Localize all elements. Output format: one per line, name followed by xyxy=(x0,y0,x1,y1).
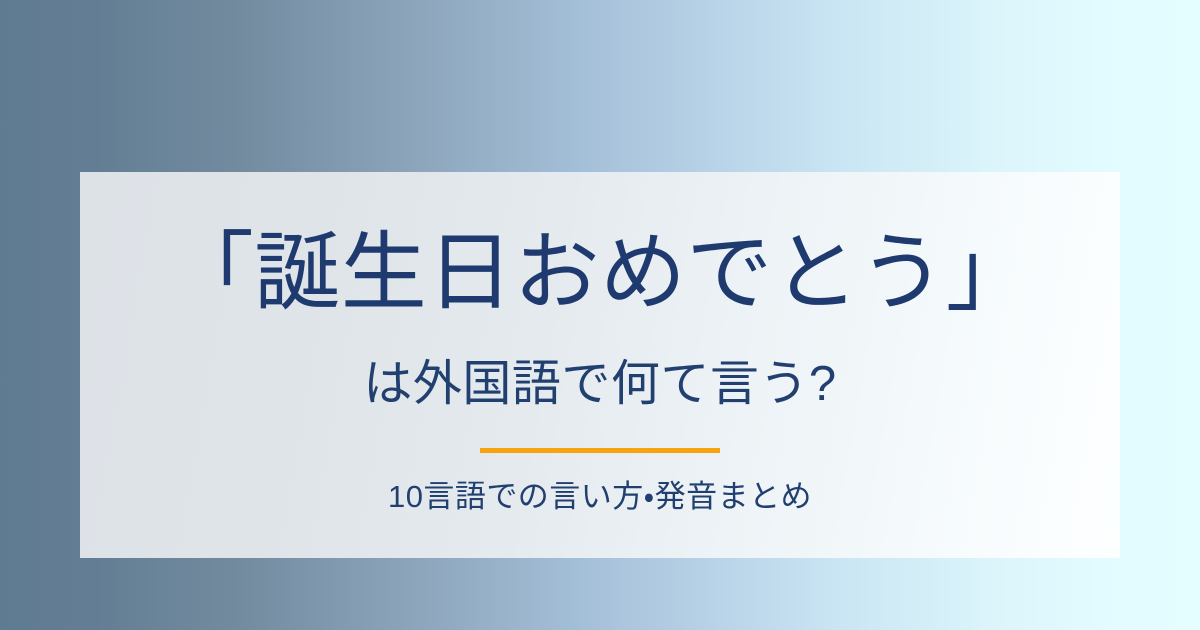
page-subtitle: は外国語で何て言う? xyxy=(363,318,836,412)
page-title: 「誕生日おめでとう」 xyxy=(168,172,1032,318)
banner-canvas: 「誕生日おめでとう」 は外国語で何て言う? 10言語での言い方・発音まとめ xyxy=(0,0,1200,630)
content-card: 「誕生日おめでとう」 は外国語で何て言う? 10言語での言い方・発音まとめ xyxy=(80,172,1120,558)
page-caption: 10言語での言い方・発音まとめ xyxy=(388,453,812,515)
